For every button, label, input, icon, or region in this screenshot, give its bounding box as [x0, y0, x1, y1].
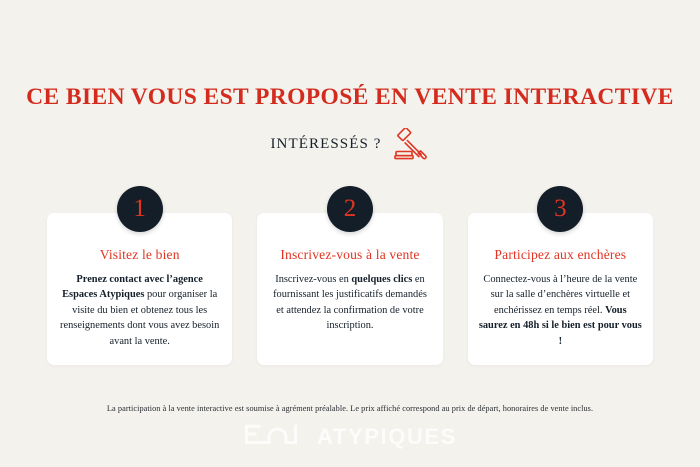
interested-row: INTÉRESSÉS ?: [0, 128, 700, 160]
step-number-badge: 1: [117, 186, 163, 232]
step-number-badge: 3: [537, 186, 583, 232]
step-body: Prenez contact avec l’agence Espaces Aty…: [58, 272, 221, 349]
step-number-badge: 2: [327, 186, 373, 232]
steps-container: 1 Visitez le bien Prenez contact avec l’…: [47, 213, 653, 365]
espaces-atypiques-logo-icon: [243, 424, 305, 450]
step-body-lead: Inscrivez-vous en: [275, 274, 351, 285]
interested-label: INTÉRESSÉS ?: [270, 136, 381, 153]
gavel-icon: [394, 128, 430, 160]
step-body-bold: quelques clics: [351, 274, 412, 285]
step-card-2: 2 Inscrivez-vous à la vente Inscrivez-vo…: [257, 213, 442, 365]
step-card-3: 3 Participez aux enchères Connectez-vous…: [468, 213, 653, 365]
step-body: Inscrivez-vous en quelques clics en four…: [268, 272, 431, 334]
step-title: Participez aux enchères: [479, 247, 642, 263]
step-title: Inscrivez-vous à la vente: [268, 247, 431, 263]
infographic-page: CE BIEN VOUS EST PROPOSÉ EN VENTE INTERA…: [0, 0, 700, 467]
watermark: ATYPIQUES: [0, 424, 700, 450]
legal-footnote: La participation à la vente interactive …: [0, 404, 700, 413]
page-title: CE BIEN VOUS EST PROPOSÉ EN VENTE INTERA…: [0, 84, 700, 111]
step-body: Connectez-vous à l’heure de la vente sur…: [479, 272, 642, 349]
step-title: Visitez le bien: [58, 247, 221, 263]
watermark-text: ATYPIQUES: [317, 424, 457, 450]
step-card-1: 1 Visitez le bien Prenez contact avec l’…: [47, 213, 232, 365]
